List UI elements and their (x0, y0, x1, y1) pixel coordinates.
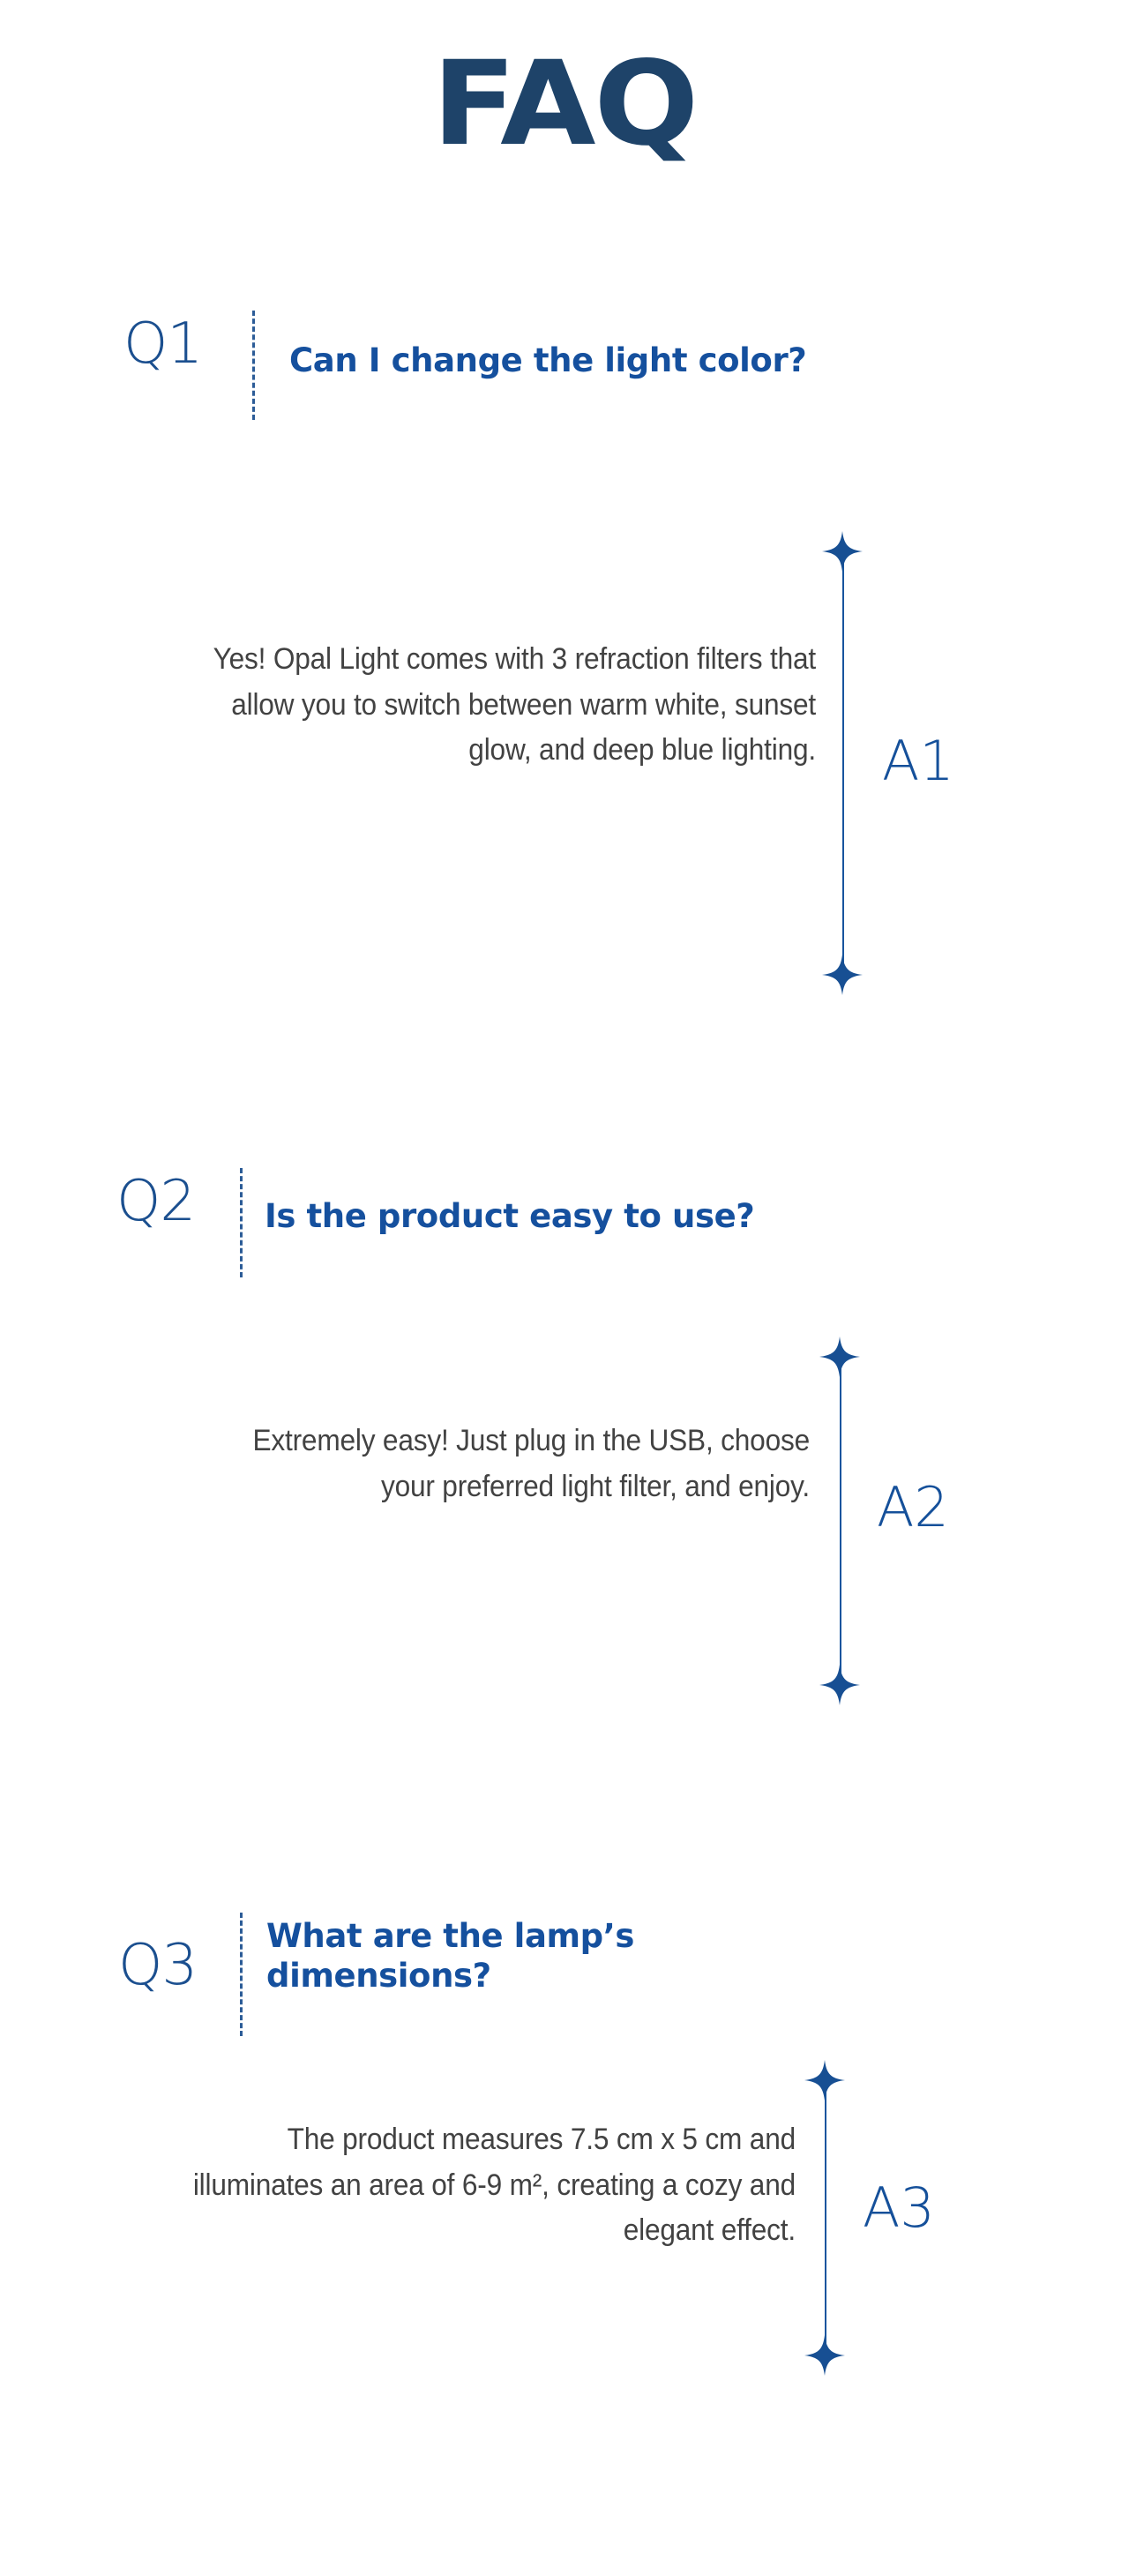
question-number-2: Q2 (116, 1173, 195, 1230)
sparkle-icon (819, 1665, 860, 1705)
sparkle-icon (804, 2335, 845, 2376)
answer-label-2: A2 (877, 1480, 949, 1535)
sparkle-icon (822, 531, 863, 572)
answer-label-3: A3 (863, 2181, 935, 2235)
question-text-3: What are the lamp’s dimensions? (266, 1916, 813, 1996)
question-divider-3 (240, 1913, 243, 2036)
question-number-3: Q3 (118, 1937, 197, 1994)
question-text-2: Is the product easy to use? (265, 1196, 935, 1236)
sparkle-icon (819, 1337, 860, 1377)
faq-infographic: { "page": { "title": "FAQ", "background"… (0, 0, 1129, 2576)
answer-rule-2 (840, 1357, 841, 1685)
sparkle-icon (822, 955, 863, 995)
question-text-1: Can I change the light color? (289, 341, 960, 380)
answer-text-2: Extremely easy! Just plug in the USB, ch… (205, 1419, 810, 1509)
question-divider-2 (240, 1168, 243, 1277)
answer-rule-1 (842, 551, 844, 975)
page-title: FAQ (0, 46, 1129, 162)
answer-text-1: Yes! Opal Light comes with 3 refraction … (205, 637, 816, 774)
answer-rule-3 (825, 2080, 826, 2355)
answer-label-1: A1 (882, 734, 954, 789)
answer-text-3: The product measures 7.5 cm x 5 cm and i… (179, 2117, 796, 2254)
question-divider-1 (252, 311, 255, 420)
question-number-1: Q1 (123, 316, 202, 372)
sparkle-icon (804, 2060, 845, 2100)
